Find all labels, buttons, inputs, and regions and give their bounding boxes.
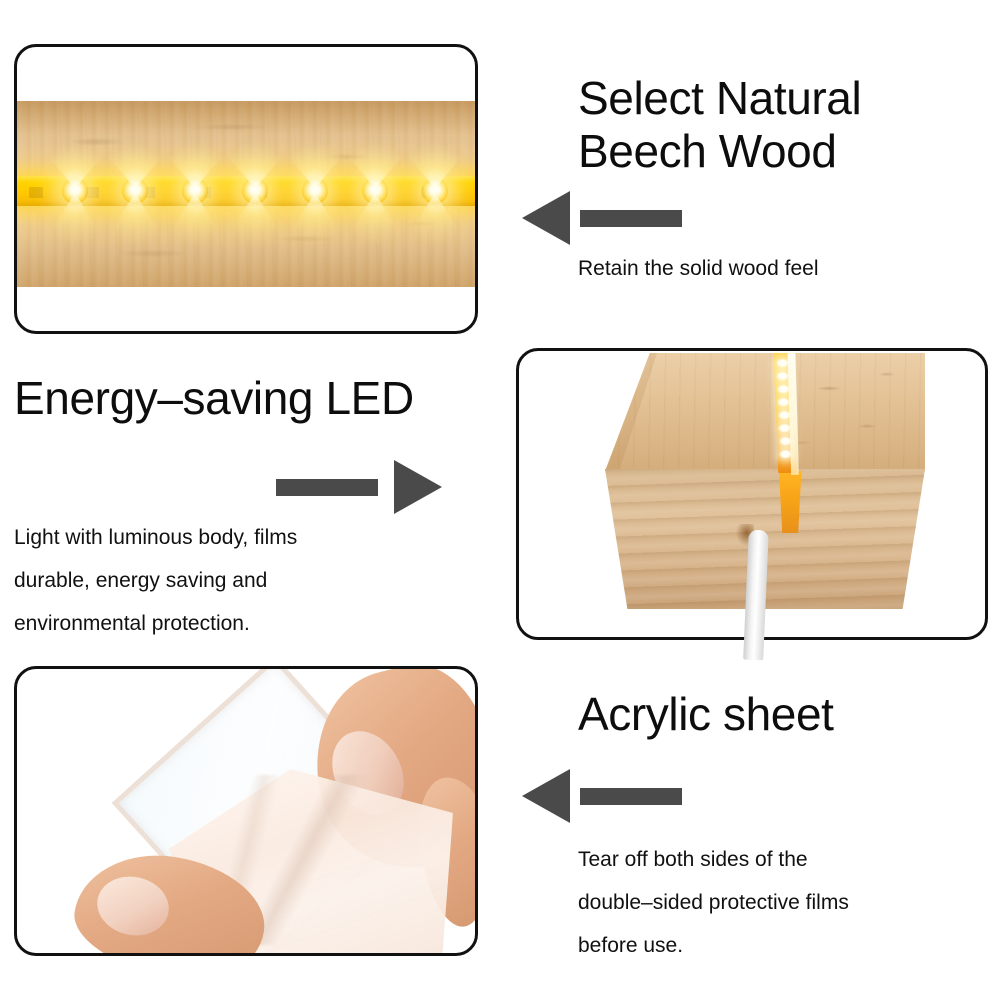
arrow-head [522,191,570,245]
led-emitter [182,178,208,204]
photo-card-acrylic-sheet [14,666,478,956]
led-emitter [422,178,448,204]
feature-title-energy-saving-led: Energy–saving LED [14,372,484,425]
feature-caption-energy-saving-led: Light with luminous body, films durable,… [14,516,414,645]
arrow-left-icon [522,191,688,245]
feature-title-acrylic-sheet: Acrylic sheet [578,688,978,741]
power-cable [743,530,769,661]
block-top-face [605,353,925,471]
led-emitter [362,178,388,204]
photo-card-beech-wood [14,44,478,334]
led-emitter [122,178,148,204]
feature-caption-acrylic-sheet: Tear off both sides of the double–sided … [578,838,978,967]
arrow-head [522,769,570,823]
led-emitter [242,178,268,204]
arrow-shaft [580,210,682,227]
arrow-right-icon [276,460,442,514]
feature-caption-beech-wood: Retain the solid wood feel [578,258,978,279]
arrow-left-icon [522,769,688,823]
arrow-head [394,460,442,514]
led-emitter [302,178,328,204]
feature-title-beech-wood: Select Natural Beech Wood [578,72,978,179]
led-emitter [62,178,88,204]
arrow-shaft [580,788,682,805]
arrow-shaft [276,479,378,496]
